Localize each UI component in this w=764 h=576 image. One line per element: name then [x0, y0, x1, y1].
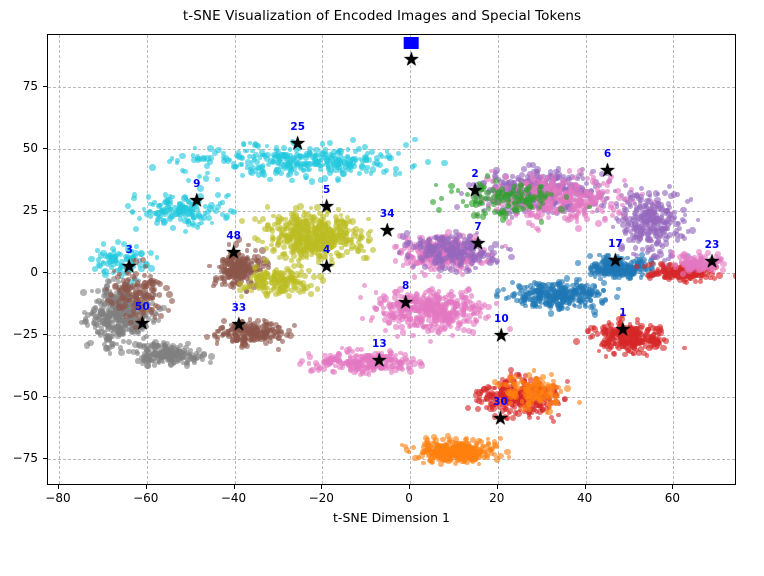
plot-area[interactable]: ★88★25★6★9★2★5★34★7★48★17★23★3★4★8★50★33…: [47, 34, 736, 485]
tsne-figure: t-SNE Visualization of Encoded Images an…: [0, 0, 764, 576]
page-title: t-SNE Visualization of Encoded Images an…: [0, 8, 764, 24]
